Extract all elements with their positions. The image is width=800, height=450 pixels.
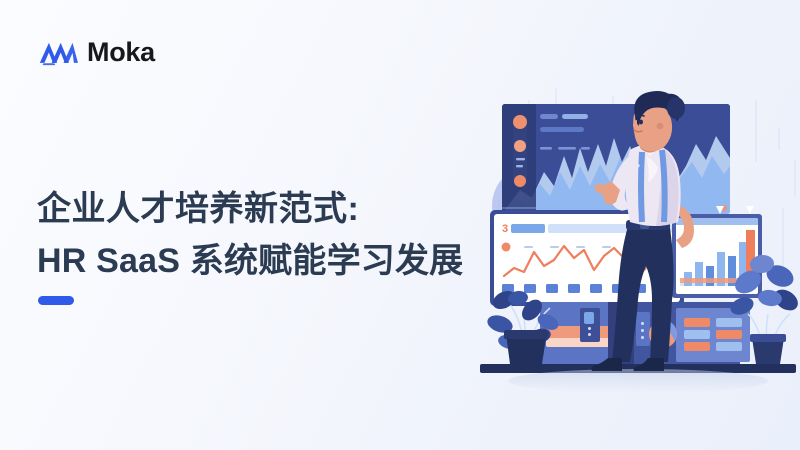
cover-canvas: Moka 企业人才培养新范式: HR SaaS 系统赋能学习发展 [0,0,800,450]
headline-line-1: 企业人才培养新范式: [37,183,463,235]
hr-analytics-illustration: 3 [480,86,800,416]
headline-block: 企业人才培养新范式: HR SaaS 系统赋能学习发展 [37,183,463,287]
svg-text:3: 3 [502,223,508,235]
moka-mountain-m-icon [38,38,78,66]
headline-line-2: HR SaaS 系统赋能学习发展 [37,235,463,287]
brand-wordmark: Moka [87,39,155,66]
brand-logo[interactable]: Moka [38,38,155,66]
accent-dash [38,296,74,305]
